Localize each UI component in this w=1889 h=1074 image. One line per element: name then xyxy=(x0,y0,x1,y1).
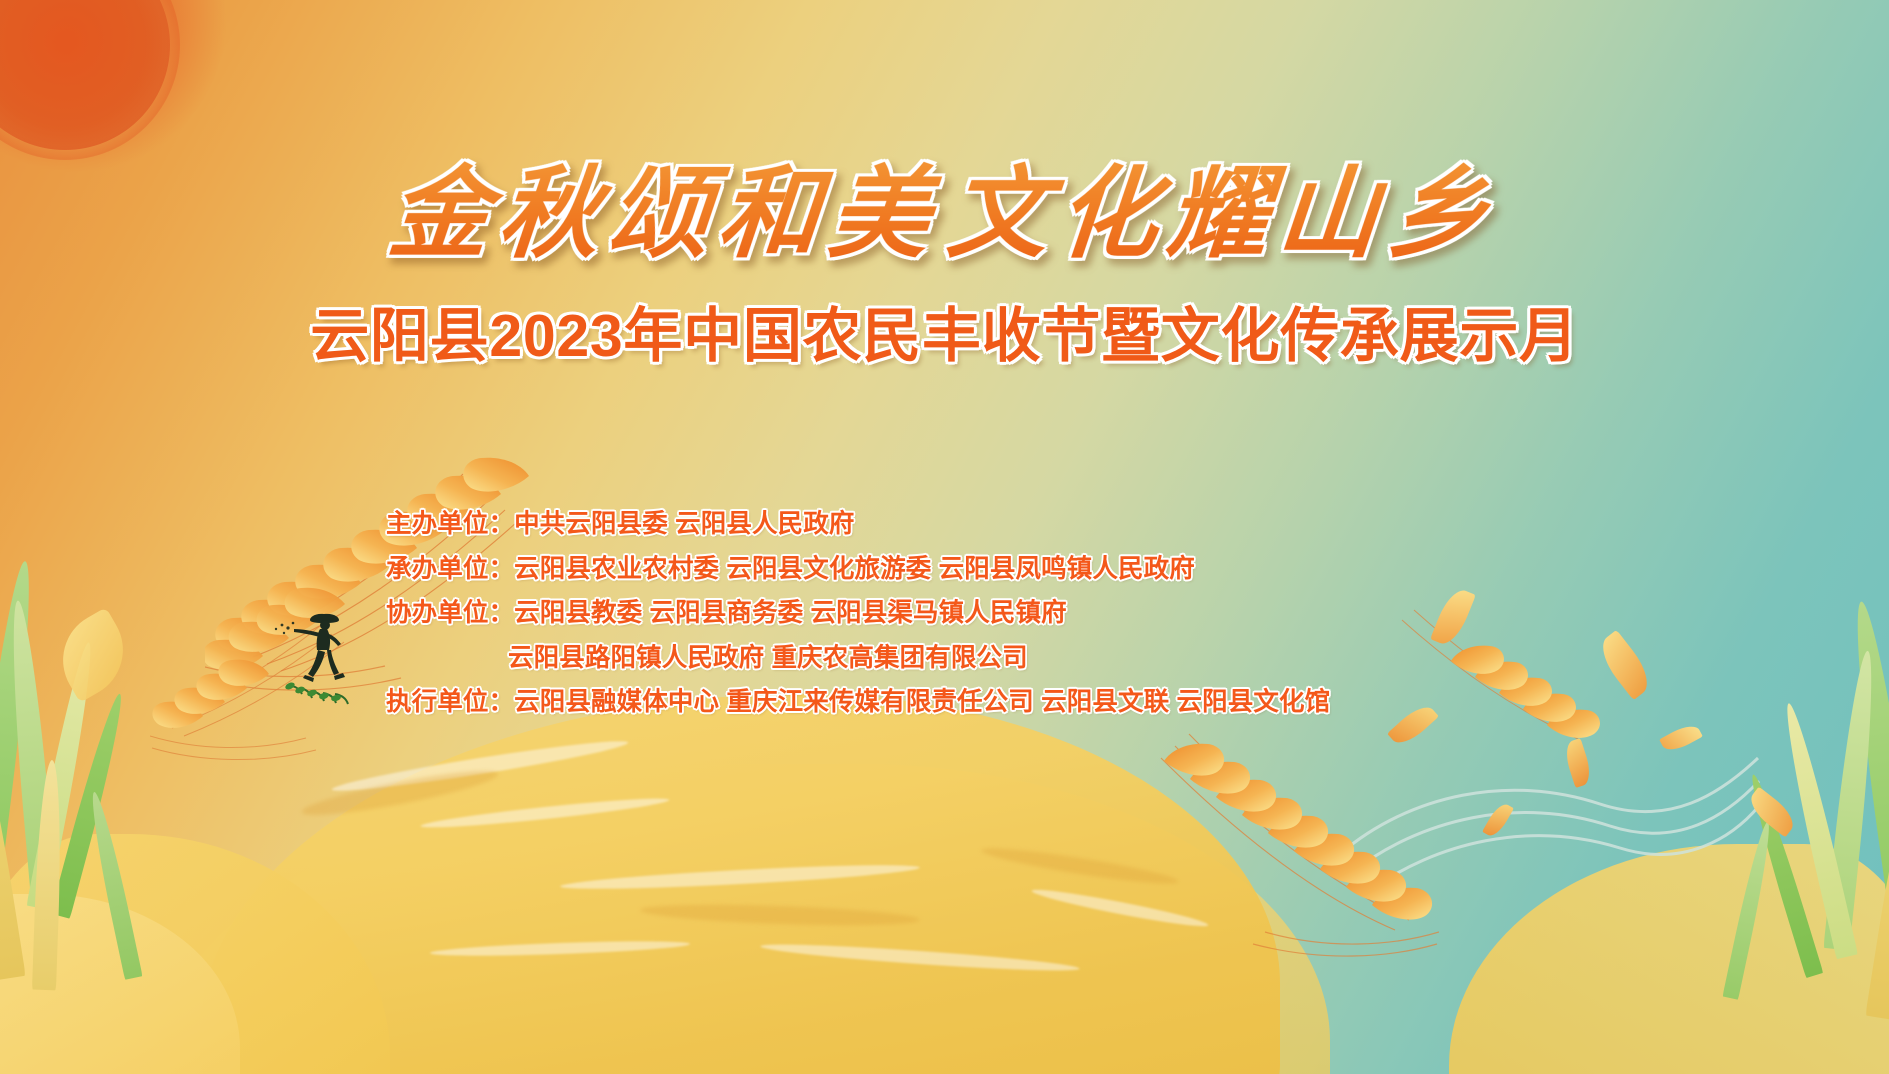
credit-line-coorganizer: 协办单位：云阳县教委 云阳县商务委 云阳县渠马镇人民镇府 xyxy=(386,591,1486,636)
brush-title-part1: 金秋颂和美 xyxy=(384,132,947,277)
sub-title-container: 云阳县2023年中国农民丰收节暨文化传承展示月 xyxy=(0,288,1889,373)
credit-line-organizer: 承办单位：云阳县农业农村委 云阳县文化旅游委 云阳县凤鸣镇人民政府 xyxy=(386,547,1486,592)
brush-title-part2: 文化耀山乡 xyxy=(943,132,1506,277)
credit-line-coorganizer-cont: 云阳县路阳镇人民政府 重庆农高集团有限公司 xyxy=(386,636,1486,681)
farmer-silhouette-icon xyxy=(272,598,402,708)
harvest-festival-poster: 金秋颂和美 文化耀山乡 云阳县2023年中国农民丰收节暨文化传承展示月 主办单位… xyxy=(0,0,1889,1074)
brush-title-container: 金秋颂和美 文化耀山乡 xyxy=(0,132,1889,277)
credit-line-host: 主办单位：中共云阳县委 云阳县人民政府 xyxy=(386,502,1486,547)
credit-line-executor: 执行单位：云阳县融媒体中心 重庆江来传媒有限责任公司 云阳县文联 云阳县文化馆 xyxy=(386,680,1486,725)
credits-block: 主办单位：中共云阳县委 云阳县人民政府 承办单位：云阳县农业农村委 云阳县文化旅… xyxy=(386,502,1486,725)
sub-title-text: 云阳县2023年中国农民丰收节暨文化传承展示月 xyxy=(310,288,1579,373)
